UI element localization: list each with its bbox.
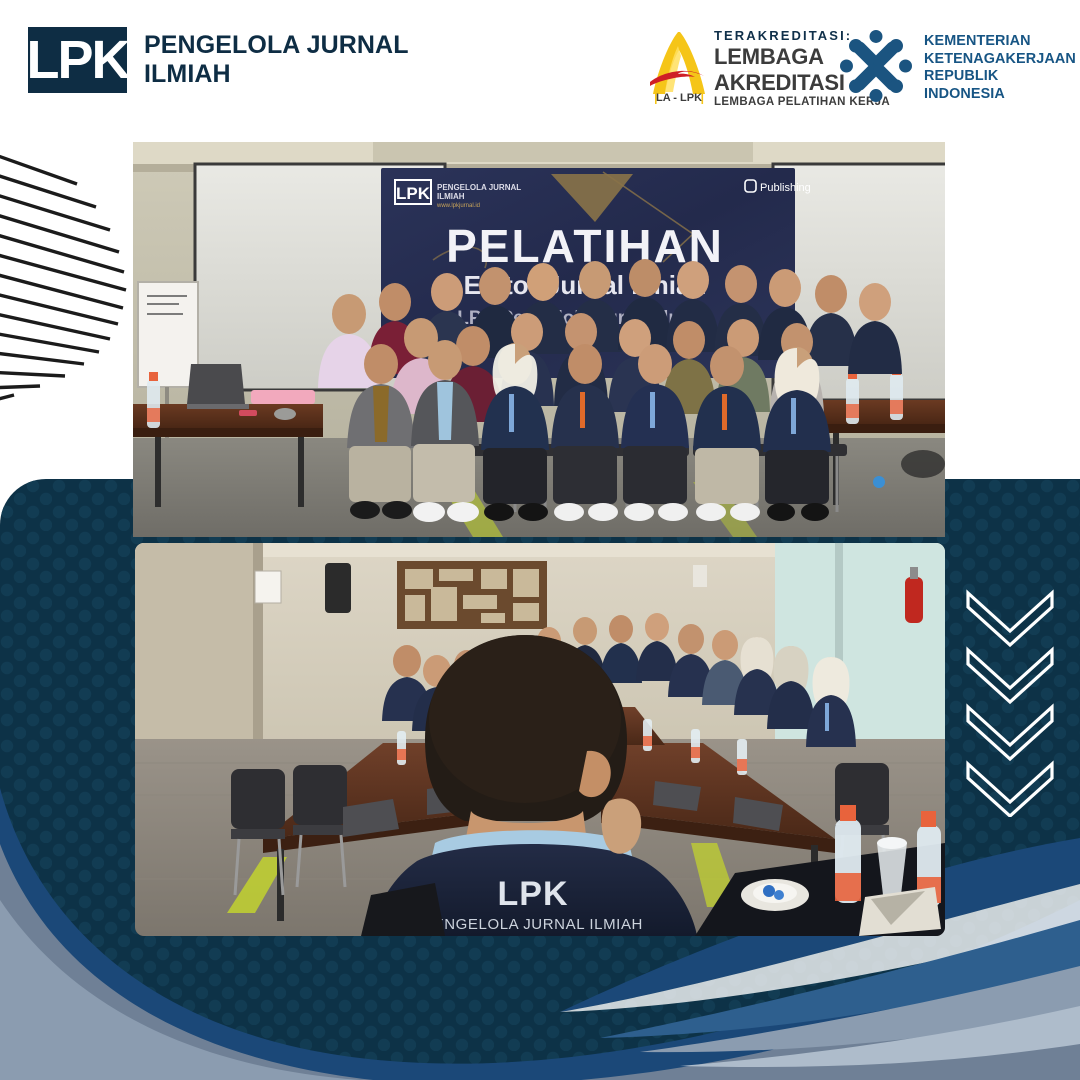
lpk-logo-mark: LPK bbox=[28, 27, 127, 93]
kemnaker-pinwheel-icon bbox=[840, 30, 912, 102]
ministry-lockup: KEMENTERIAN KETENAGAKERJAAN REPUBLIK IND… bbox=[840, 30, 1076, 103]
brand-title-line1: PENGELOLA JURNAL bbox=[144, 31, 409, 60]
svg-text:LPK: LPK bbox=[498, 875, 569, 913]
poster-header: LPK PENGELOLA JURNAL ILMIAH LA - LPK bbox=[0, 0, 1080, 132]
photo-kelas-pelatihan: LPK PENGELOLA JURNAL ILMIAH bbox=[135, 543, 945, 936]
ministry-line3: REPUBLIK bbox=[924, 68, 1076, 86]
chevron-down-icon bbox=[968, 707, 1052, 759]
svg-text:ILMIAH: ILMIAH bbox=[437, 192, 465, 201]
photo-group-pelatihan: LPK PENGELOLA JURNAL ILMIAH www.lpkjurna… bbox=[133, 142, 945, 537]
svg-text:www.lpkjurnal.id: www.lpkjurnal.id bbox=[436, 203, 480, 209]
poster-canvas: LPK PENGELOLA JURNAL ILMIAH LA - LPK bbox=[0, 0, 1080, 1080]
chevron-down-icon bbox=[968, 764, 1052, 816]
chevron-down-icon bbox=[968, 593, 1052, 645]
svg-text:PENGELOLA JURNAL ILMIAH: PENGELOLA JURNAL ILMIAH bbox=[423, 916, 643, 933]
ministry-line2: KETENAGAKERJAAN bbox=[924, 51, 1076, 69]
la-lpk-logo-icon: LA - LPK bbox=[648, 26, 710, 104]
lpk-brand-lockup: LPK PENGELOLA JURNAL ILMIAH bbox=[28, 27, 409, 93]
svg-text:LA - LPK: LA - LPK bbox=[656, 92, 702, 104]
diagonal-stripe-fan bbox=[0, 140, 142, 405]
chevron-stack bbox=[958, 589, 1062, 817]
ministry-line4: INDONESIA bbox=[924, 86, 1076, 104]
ministry-text: KEMENTERIAN KETENAGAKERJAAN REPUBLIK IND… bbox=[924, 30, 1076, 103]
lpk-logo-text: LPK bbox=[27, 33, 129, 87]
brand-title: PENGELOLA JURNAL ILMIAH bbox=[144, 31, 409, 90]
svg-text:PELATIHAN: PELATIHAN bbox=[446, 220, 724, 272]
ministry-line1: KEMENTERIAN bbox=[924, 33, 1076, 51]
chevron-down-icon bbox=[968, 650, 1052, 702]
svg-text:LPK: LPK bbox=[396, 184, 431, 203]
svg-text:PENGELOLA JURNAL: PENGELOLA JURNAL bbox=[437, 183, 521, 192]
svg-text:Publishing: Publishing bbox=[760, 182, 811, 194]
brand-title-line2: ILMIAH bbox=[144, 60, 409, 89]
